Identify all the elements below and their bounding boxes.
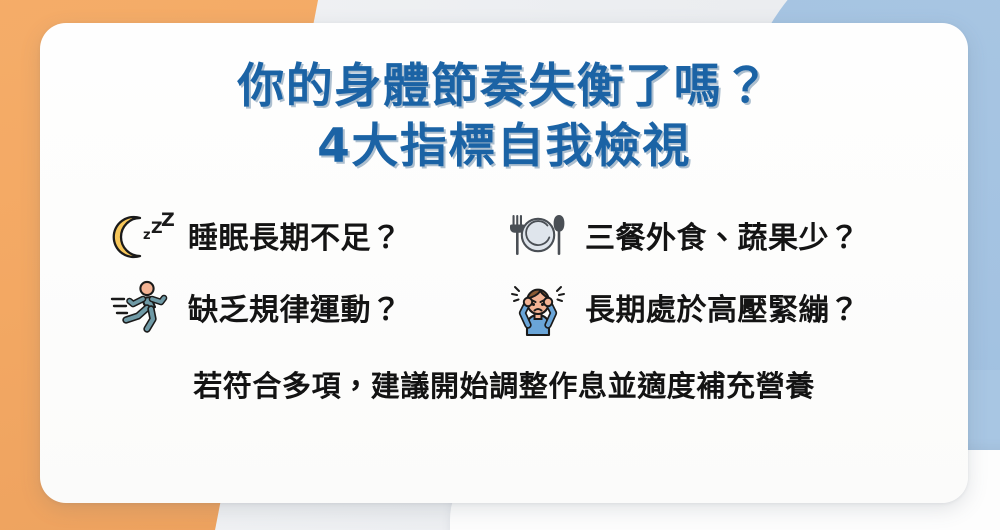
checklist-item-sleep: z Z Z 睡眠長期不足？ <box>110 207 507 263</box>
footnote-text: 若符合多項，建議開始調整作息並適度補充營養 <box>193 363 815 405</box>
checklist: z Z Z 睡眠長期不足？ <box>70 207 938 335</box>
running-person-icon <box>110 279 172 335</box>
infographic-canvas: 你的身體節奏失衡了嗎？ 4大指標自我檢視 z Z Z 睡眠長期不足？ <box>0 0 1000 530</box>
checklist-item-diet: 三餐外食、蔬果少？ <box>507 207 904 263</box>
card-content: 你的身體節奏失衡了嗎？ 4大指標自我檢視 z Z Z 睡眠長期不足？ <box>40 23 968 503</box>
svg-text:Z: Z <box>161 209 175 231</box>
checklist-item-exercise: 缺乏規律運動？ <box>110 279 507 335</box>
page-title-line-1: 你的身體節奏失衡了嗎？ <box>237 59 771 114</box>
sleeping-moon-icon: z Z Z <box>110 207 172 263</box>
checklist-item-stress: 長期處於高壓緊繃？ <box>507 279 904 335</box>
page-title-line-2: 4大指標自我檢視 <box>237 117 771 177</box>
svg-text:z: z <box>143 228 151 243</box>
checklist-item-label: 長期處於高壓緊繃？ <box>585 285 860 329</box>
page-title: 你的身體節奏失衡了嗎？ 4大指標自我檢視 <box>237 57 771 177</box>
checklist-item-label: 三餐外食、蔬果少？ <box>585 213 860 257</box>
stressed-person-icon <box>507 279 569 335</box>
plate-fork-knife-icon <box>507 207 569 263</box>
checklist-item-label: 缺乏規律運動？ <box>188 285 402 329</box>
main-card: 你的身體節奏失衡了嗎？ 4大指標自我檢視 z Z Z 睡眠長期不足？ <box>40 23 968 503</box>
checklist-item-label: 睡眠長期不足？ <box>188 213 402 257</box>
